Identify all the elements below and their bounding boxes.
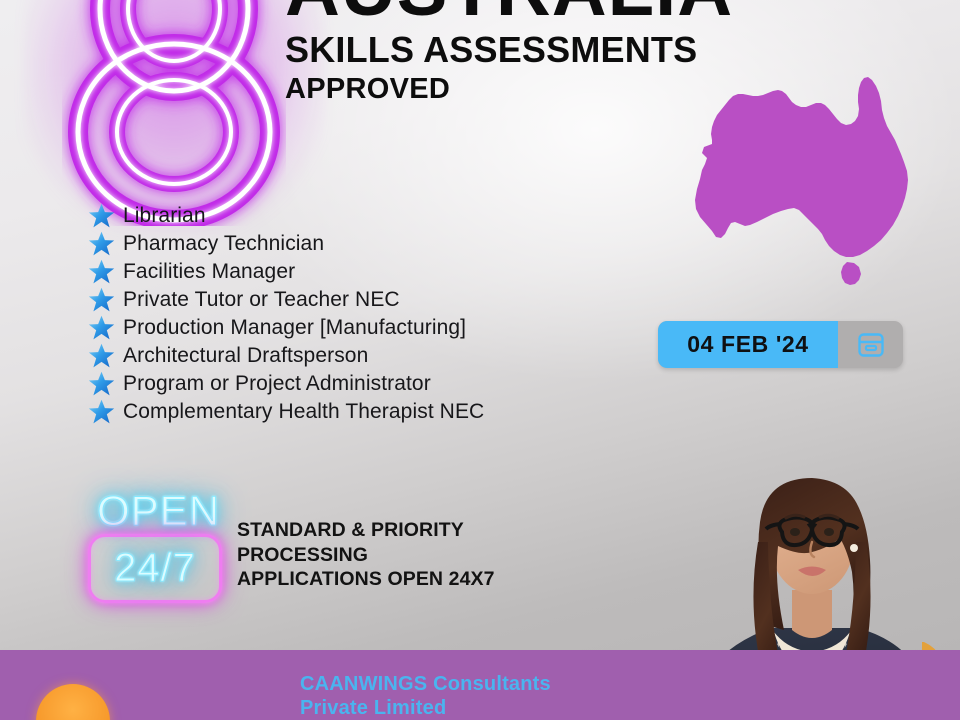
list-item: Architectural Draftsperson — [88, 342, 608, 370]
neon-open-label: OPEN — [97, 487, 220, 535]
star-icon — [88, 230, 115, 257]
star-icon — [88, 398, 115, 425]
neon-eight-icon — [62, 0, 286, 226]
calendar-icon — [857, 332, 885, 358]
neon-247-label: 24/7 — [114, 546, 196, 591]
occupation-list: Librarian Pharmacy Technician Facilities… — [88, 202, 608, 426]
date-badge[interactable]: 04 FEB '24 — [658, 321, 903, 368]
footer-band: CAANWINGS Consultants Private Limited — [0, 650, 960, 720]
list-item: Complementary Health Therapist NEC — [88, 398, 608, 426]
processing-note: STANDARD & PRIORITY PROCESSING APPLICATI… — [237, 518, 537, 592]
company-name-line-1: CAANWINGS Consultants — [300, 672, 720, 696]
star-icon — [88, 258, 115, 285]
neon-247-box: 24/7 — [88, 534, 222, 603]
occupation-label: Private Tutor or Teacher NEC — [123, 288, 400, 312]
list-item: Program or Project Administrator — [88, 370, 608, 398]
occupation-label: Production Manager [Manufacturing] — [123, 316, 466, 340]
date-text: 04 FEB '24 — [687, 331, 808, 358]
star-icon — [88, 370, 115, 397]
occupation-label: Program or Project Administrator — [123, 372, 431, 396]
occupation-label: Pharmacy Technician — [123, 232, 324, 256]
accent-circle — [36, 684, 110, 720]
promotional-poster: AUSTRALIA SKILLS ASSESSMENTS APPROVED Li… — [0, 0, 960, 720]
star-icon — [88, 286, 115, 313]
processing-note-line-2: PROCESSING — [237, 543, 537, 568]
neon-glow-halo — [24, 0, 324, 233]
star-icon — [88, 342, 115, 369]
processing-note-line-1: STANDARD & PRIORITY — [237, 518, 537, 543]
australia-map — [655, 48, 945, 310]
processing-note-line-3: APPLICATIONS OPEN 24X7 — [237, 567, 537, 592]
list-item: Librarian — [88, 202, 608, 230]
list-item: Pharmacy Technician — [88, 230, 608, 258]
list-item: Private Tutor or Teacher NEC — [88, 286, 608, 314]
star-icon — [88, 314, 115, 341]
occupation-label: Complementary Health Therapist NEC — [123, 400, 484, 424]
occupation-label: Facilities Manager — [123, 260, 295, 284]
list-item: Production Manager [Manufacturing] — [88, 314, 608, 342]
australia-map-icon — [655, 48, 945, 310]
headline-line-1: AUSTRALIA — [285, 0, 925, 27]
list-item: Facilities Manager — [88, 258, 608, 286]
company-name-line-2: Private Limited — [300, 696, 720, 720]
neon-number-badge — [62, 0, 286, 226]
star-icon — [88, 202, 115, 229]
occupation-label: Librarian — [123, 204, 206, 228]
company-name: CAANWINGS Consultants Private Limited — [300, 672, 720, 720]
occupation-label: Architectural Draftsperson — [123, 344, 368, 368]
calendar-button[interactable] — [838, 321, 903, 368]
date-pill: 04 FEB '24 — [658, 321, 838, 368]
